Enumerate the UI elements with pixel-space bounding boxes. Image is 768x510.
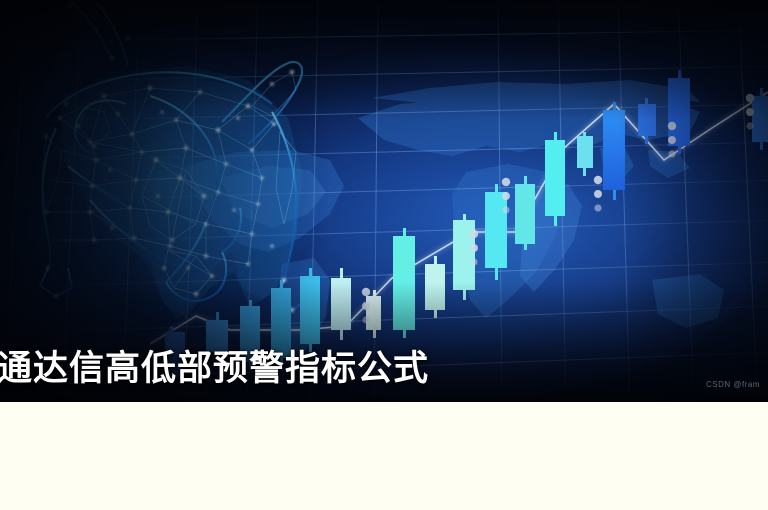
banner-title: 通达信高低部预警指标公式: [0, 352, 429, 387]
page-body-area: [0, 402, 768, 510]
vignette-overlay: [0, 0, 768, 402]
page-root: 通达信高低部预警指标公式 CSDN @fram: [0, 0, 768, 510]
watermark-label: CSDN @fram: [706, 380, 760, 389]
hero-banner: 通达信高低部预警指标公式 CSDN @fram: [0, 0, 768, 402]
